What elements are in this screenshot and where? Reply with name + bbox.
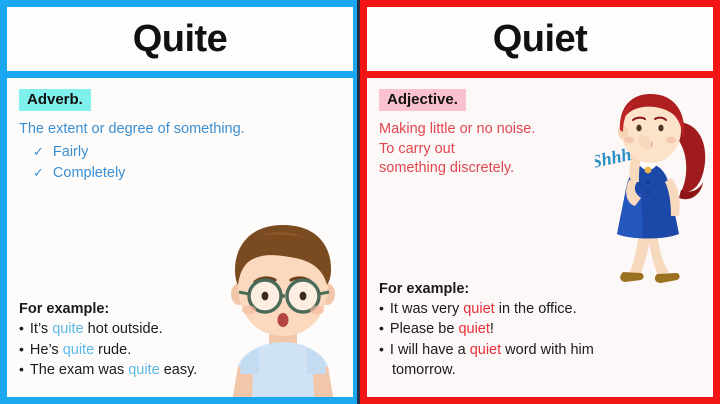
- body-card-quiet: Adjective. Making little or no noise. To…: [367, 78, 713, 397]
- bullet-icon: •: [379, 319, 384, 339]
- panel-divider: [357, 0, 360, 404]
- synonym-check-list: ✓ Fairly ✓ Completely: [19, 142, 341, 184]
- list-item: • It’s quite hot outside.: [19, 319, 343, 340]
- keyword-highlight: quiet: [470, 342, 501, 358]
- examples-list-quite: • It’s quite hot outside. • He’s quite r…: [19, 319, 343, 381]
- panel-gap-right: [367, 71, 713, 78]
- example-sentence: It was very quiet in the office.: [390, 299, 577, 320]
- check-icon: ✓: [33, 164, 44, 183]
- bullet-icon: •: [19, 319, 24, 339]
- list-item: ✓ Completely: [19, 163, 341, 184]
- keyword-highlight: quite: [128, 362, 159, 378]
- definition-line: The extent or degree of something.: [19, 120, 341, 139]
- list-item: • Please be quiet!: [379, 319, 703, 340]
- bullet-icon: •: [379, 340, 384, 360]
- page-title-quiet: Quiet: [493, 20, 588, 58]
- keyword-highlight: quiet: [458, 321, 489, 337]
- example-sentence: He’s quite rude.: [30, 340, 131, 361]
- examples-list-quiet: • It was very quiet in the office. • Ple…: [379, 299, 703, 381]
- check-item-label: Fairly: [53, 142, 88, 163]
- panel-quite: Quite Adverb. The extent or degree of so…: [0, 0, 360, 404]
- definition-block-quite: The extent or degree of something. ✓ Fai…: [19, 120, 341, 183]
- girl-shushing-illustration: Shhh: [595, 82, 713, 292]
- part-of-speech-badge-adverb: Adverb.: [19, 89, 91, 111]
- example-sentence: I will have a quiet word with him: [390, 340, 594, 361]
- examples-title: For example:: [19, 301, 343, 317]
- list-item: • The exam was quite easy.: [19, 360, 343, 381]
- panel-quiet: Quiet Adjective. Making little or no noi…: [360, 0, 720, 404]
- keyword-highlight: quiet: [463, 301, 494, 317]
- list-item: • He’s quite rude.: [19, 340, 343, 361]
- list-item: ✓ Fairly: [19, 142, 341, 163]
- bullet-icon: •: [379, 299, 384, 319]
- body-card-quite: Adverb. The extent or degree of somethin…: [7, 78, 353, 397]
- shhh-sound-effect-text: Shhh: [595, 144, 633, 172]
- list-item: • It was very quiet in the office.: [379, 299, 703, 320]
- comparison-board: Quite Adverb. The extent or degree of so…: [0, 0, 720, 404]
- example-sentence: Please be quiet!: [390, 319, 494, 340]
- panel-gap-left: [7, 71, 353, 78]
- examples-block-quite: For example: • It’s quite hot outside. •…: [19, 301, 343, 381]
- list-item: • I will have a quiet word with him: [379, 340, 703, 361]
- example-sentence-continuation: tomorrow.: [392, 360, 456, 381]
- page-title-quite: Quite: [133, 20, 228, 58]
- title-card-quite: Quite: [7, 7, 353, 71]
- bullet-icon: •: [19, 340, 24, 360]
- keyword-highlight: quite: [52, 321, 83, 337]
- part-of-speech-badge-adjective: Adjective.: [379, 89, 466, 111]
- example-sentence: The exam was quite easy.: [30, 360, 197, 381]
- check-item-label: Completely: [53, 163, 126, 184]
- bullet-icon: •: [19, 360, 24, 380]
- list-item: tomorrow.: [379, 360, 703, 381]
- title-card-quiet: Quiet: [367, 7, 713, 71]
- check-icon: ✓: [33, 143, 44, 162]
- examples-block-quiet: For example: • It was very quiet in the …: [379, 281, 703, 381]
- keyword-highlight: quite: [63, 342, 94, 358]
- examples-title: For example:: [379, 281, 703, 297]
- example-sentence: It’s quite hot outside.: [30, 319, 163, 340]
